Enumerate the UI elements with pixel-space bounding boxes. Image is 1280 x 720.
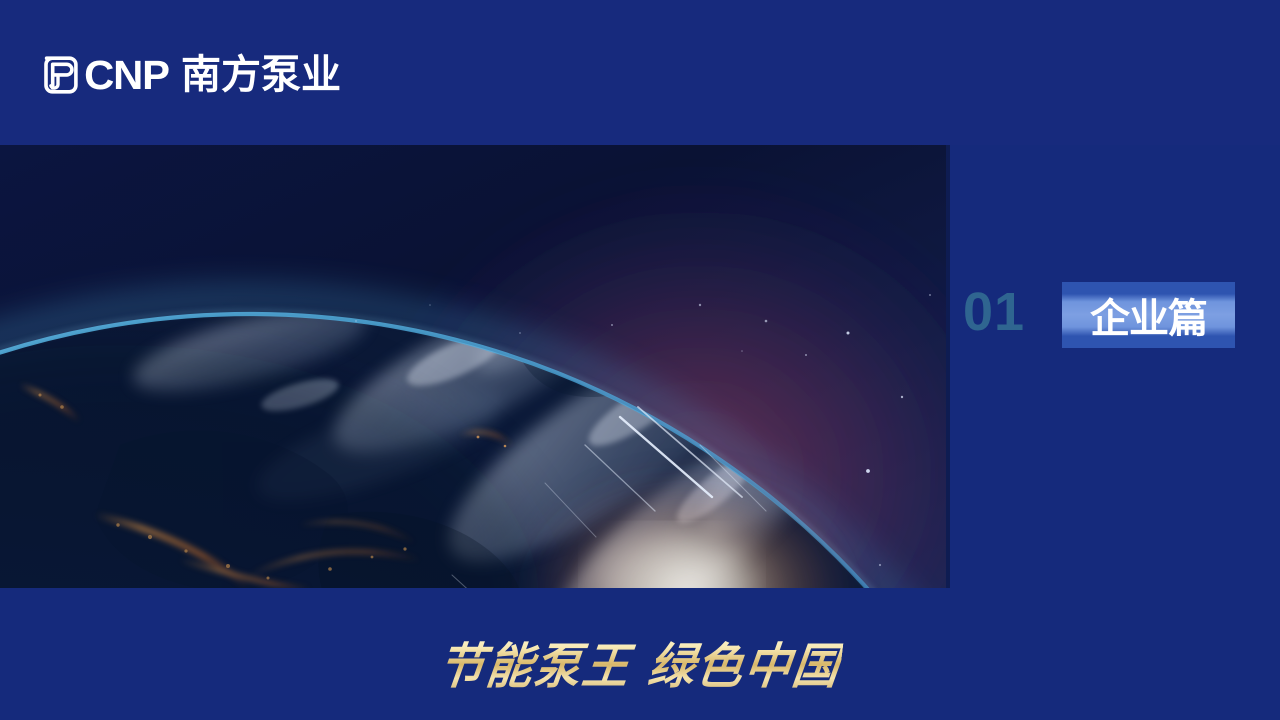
footer-slogan: 节能泵王 绿色中国 — [0, 628, 1280, 698]
brand-latin-label: CNP — [84, 55, 169, 96]
brand-chinese-label: 南方泵业 — [181, 55, 341, 95]
section-title-highlight: 企业篇 — [1062, 282, 1235, 348]
brand-logo[interactable]: CNP 南方泵业 — [42, 50, 341, 100]
slogan-text: 节能泵王 绿色中国 — [435, 628, 846, 698]
section-label-block: 01 企业篇 — [946, 145, 1280, 588]
presentation-slide: CNP 南方泵业 — [0, 0, 1280, 720]
section-number: 01 — [963, 285, 1025, 339]
cnp-logo-mark-icon — [42, 56, 80, 94]
earth-from-space-photo — [0, 145, 946, 588]
section-title: 企业篇 — [1062, 282, 1235, 348]
